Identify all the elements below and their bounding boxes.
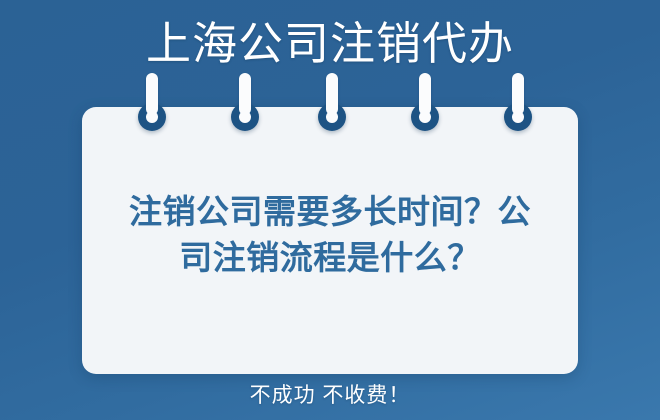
binding-ring-4-icon: [408, 73, 442, 141]
footer-slogan: 不成功 不收费！: [0, 381, 660, 411]
ring-pill-front-shape: [512, 81, 524, 115]
headline-line-1: 注销公司需要多长时间？公: [112, 189, 548, 235]
binding-ring-1-icon: [135, 73, 169, 141]
ring-pill-front-shape: [326, 81, 338, 115]
ring-pill-front-shape: [419, 81, 431, 115]
poster-canvas: 上海公司注销代办 注销公司需要多长时间？公: [0, 0, 660, 420]
binding-ring-5-icon: [501, 73, 535, 141]
notepad-card: 注销公司需要多长时间？公 司注销流程是什么？: [82, 107, 578, 374]
headline-block: 注销公司需要多长时间？公 司注销流程是什么？: [112, 189, 548, 281]
headline-line-2: 司注销流程是什么？: [112, 235, 548, 281]
binding-ring-2-icon: [228, 73, 262, 141]
ring-pill-front-shape: [239, 81, 251, 115]
binding-ring-3-icon: [315, 73, 349, 141]
page-title: 上海公司注销代办: [0, 13, 660, 75]
ring-pill-front-shape: [146, 81, 158, 115]
